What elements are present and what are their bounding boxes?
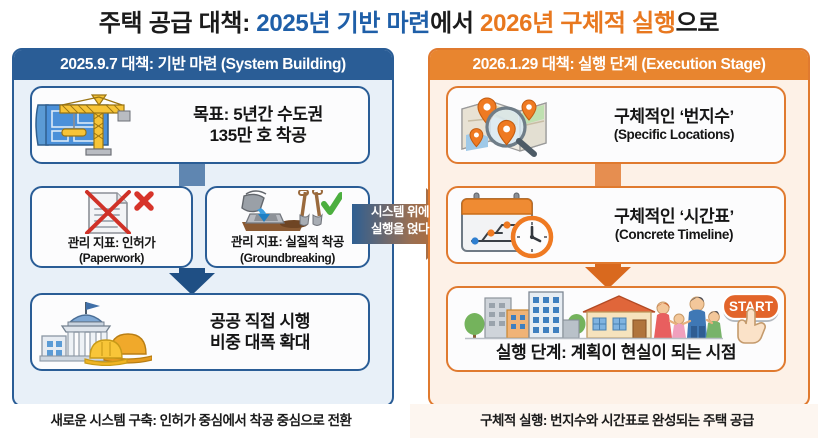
map-pin-magnifier-icon (448, 91, 564, 159)
right-card-locations-text: 구체적인 ‘번지수’ (Specific Locations) (564, 106, 784, 144)
left-arrow-down-icon (169, 273, 215, 295)
left-connector-bar-1 (179, 164, 205, 186)
crossed-document-icon (69, 190, 155, 234)
left-card-groundbreaking-text: 관리 지표: 실질적 착공 (Groundbreaking) (231, 235, 344, 266)
right-panel-execution-stage: 2026.1.29 대책: 실행 단계 (Execution Stage) (428, 48, 810, 407)
left-card-paperwork[interactable]: 관리 지표: 인허가 (Paperwork) (30, 186, 193, 268)
title-part-1: 주택 공급 대책: (99, 10, 256, 37)
left-card-public-execution-text: 공공 직접 시행 비중 대폭 확대 (152, 311, 368, 354)
left-card-goal-line2: 135만 호 착공 (148, 125, 368, 146)
right-card-execution-moment[interactable]: START 실행 단계: 계획이 현실이 되는 시점 (446, 286, 786, 372)
right-card-timeline-line2: (Concrete Timeline) (564, 227, 784, 244)
left-panel-system-building: 2025.9.7 대책: 기반 마련 (System Building) (12, 48, 394, 407)
green-check-icon (324, 195, 341, 212)
left-card-groundbreaking-line2: (Groundbreaking) (231, 251, 344, 266)
right-card-timeline-text: 구체적인 ‘시간표’ (Concrete Timeline) (564, 206, 784, 244)
right-panel-body: 구체적인 ‘번지수’ (Specific Locations) (430, 80, 808, 403)
left-panel-header: 2025.9.7 대책: 기반 마련 (System Building) (14, 50, 392, 80)
right-card-concrete-timeline[interactable]: 구체적인 ‘시간표’ (Concrete Timeline) (446, 186, 786, 264)
right-connector-bar-1 (595, 164, 621, 186)
left-card-groundbreaking-line1: 관리 지표: 실질적 착공 (231, 235, 344, 251)
left-card-public-execution[interactable]: 공공 직접 시행 비중 대폭 확대 (30, 293, 370, 371)
calendar-clock-timeline-icon (448, 191, 564, 259)
right-card-specific-locations[interactable]: 구체적인 ‘번지수’ (Specific Locations) (446, 86, 786, 164)
left-card-public-line2: 비중 대폭 확대 (152, 332, 368, 353)
red-x-icon (137, 194, 151, 208)
infographic-root: 주택 공급 대책: 2025년 기반 마련에서 2026년 구체적 실행으로 2… (0, 0, 818, 439)
title-part-3: 에서 (430, 10, 480, 37)
right-card-execution-line1: 실행 단계: 계획이 현실이 되는 시점 (496, 342, 736, 363)
right-card-locations-line1: 구체적인 ‘번지수’ (564, 106, 784, 127)
center-arrow-text: 시스템 위에 실행을 얹다 (352, 204, 448, 238)
right-card-locations-line2: (Specific Locations) (564, 127, 784, 144)
right-panel-header: 2026.1.29 대책: 실행 단계 (Execution Stage) (430, 50, 808, 80)
title-part-4-year2026: 2026년 구체적 실행 (480, 10, 676, 37)
center-arrow-line2: 실행을 얹다 (352, 221, 448, 238)
city-family-start-icon: START (448, 288, 784, 344)
left-card-paperwork-line2: (Paperwork) (68, 251, 156, 266)
right-card-timeline-line1: 구체적인 ‘시간표’ (564, 206, 784, 227)
left-panel-body: 목표: 5년간 수도권 135만 호 착공 (14, 80, 392, 403)
left-card-groundbreaking[interactable]: 관리 지표: 실질적 착공 (Groundbreaking) (205, 186, 370, 268)
page-title: 주택 공급 대책: 2025년 기반 마련에서 2026년 구체적 실행으로 (0, 6, 818, 42)
blueprint-crane-icon (32, 91, 148, 159)
right-card-execution-text: 실행 단계: 계획이 현실이 되는 시점 (496, 342, 736, 370)
left-card-public-line1: 공공 직접 시행 (152, 311, 368, 332)
center-arrow-line1: 시스템 위에 (352, 204, 448, 221)
left-footer-text: 새로운 시스템 구축: 인허가 중심에서 착공 중심으로 전환 (12, 408, 390, 434)
government-hardhat-icon (32, 298, 152, 366)
left-card-paperwork-line1: 관리 지표: 인허가 (68, 236, 156, 252)
left-card-goal-line1: 목표: 5년간 수도권 (148, 104, 368, 125)
left-card-goal-text: 목표: 5년간 수도권 135만 호 착공 (148, 104, 368, 147)
title-part-5: 으로 (676, 10, 720, 37)
left-card-goal[interactable]: 목표: 5년간 수도권 135만 호 착공 (30, 86, 370, 164)
right-footer-text: 구체적 실행: 번지수와 시간표로 완성되는 주택 공급 (428, 408, 806, 434)
title-part-2-year2025: 2025년 기반 마련 (256, 10, 430, 37)
groundbreaking-icon (234, 190, 342, 234)
left-card-paperwork-text: 관리 지표: 인허가 (Paperwork) (68, 236, 156, 267)
